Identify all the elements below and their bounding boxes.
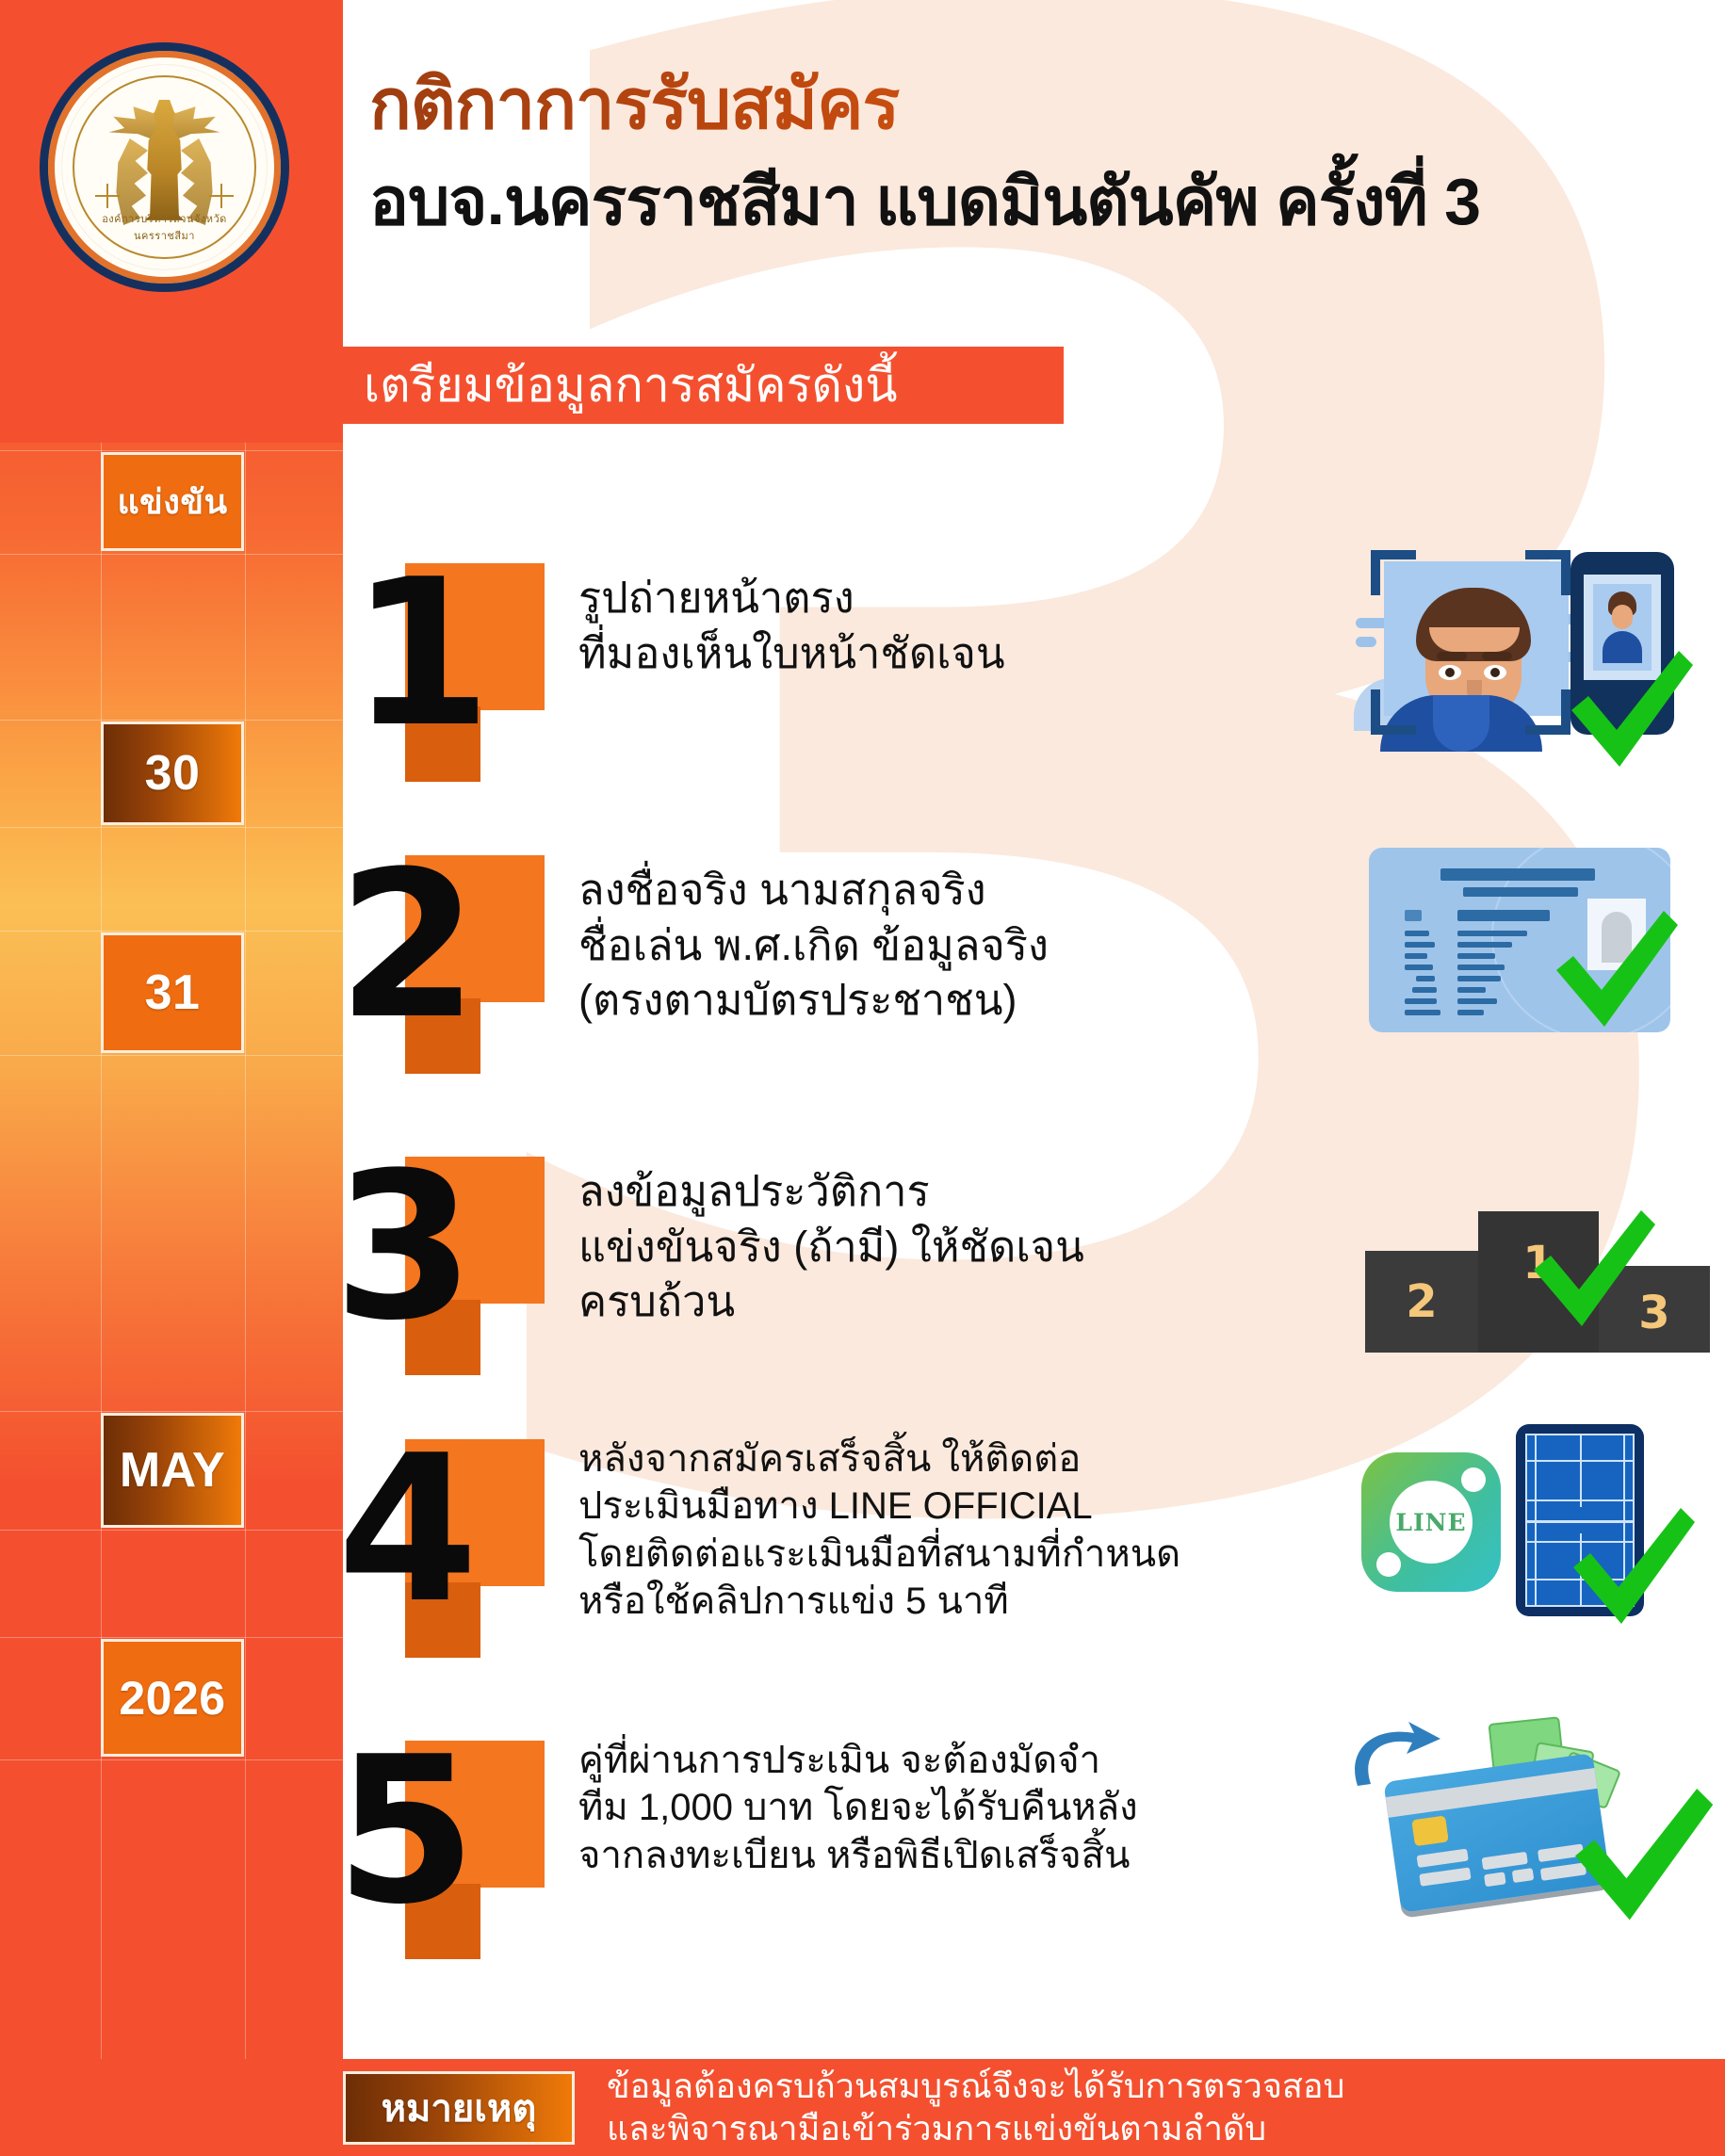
step-1-line-1: รูปถ่ายหน้าตรง: [578, 571, 1348, 626]
page-title: กติกาการรับสมัคร: [369, 68, 1480, 141]
step-3-text: ลงข้อมูลประวัติการ แข่งขันจริง (ถ้ามี) ใ…: [569, 1121, 1348, 1330]
green-check-icon-3: [1520, 1196, 1661, 1337]
rail-chip-day-30: 30: [101, 721, 244, 825]
id-card-icon: [1348, 819, 1725, 1121]
poster-canvas: 3 องค์การบริหารส่วนจังหวัดนครราชส: [0, 0, 1725, 2156]
step-2-line-2: ชื่อเล่น พ.ศ.เกิด ข้อมูลจริง: [578, 918, 1348, 974]
podium-label-2: 2: [1365, 1275, 1478, 1328]
note-line-2: และพิจารณามือเข้าร่วมการแข่งขันตามลำดับ: [607, 2108, 1344, 2150]
step-item-2: 2 ลงชื่อจริง นามสกุลจริง ชื่อเล่น พ.ศ.เก…: [343, 819, 1725, 1121]
scan-bracket-top-right-icon: [1525, 550, 1570, 595]
step-1-number-block: 1: [343, 527, 569, 819]
step-5-line-3: จากลงทะเบียน หรือพิธีเปิดเสร็จสิ้น: [578, 1832, 1348, 1879]
seal-cross-right-icon: [209, 184, 234, 208]
step-1-text: รูปถ่ายหน้าตรง ที่มองเห็นใบหน้าชัดเจน: [569, 527, 1348, 681]
step-3-number: 3: [334, 1153, 560, 1351]
step-3-number-block: 3: [343, 1121, 569, 1403]
step-3-line-2: แข่งขันจริง (ถ้ามี) ให้ชัดเจน: [578, 1220, 1348, 1275]
scan-bracket-top-left-icon: [1371, 550, 1416, 595]
line-wordmark: LINE: [1390, 1481, 1473, 1564]
steps-list: 1 รูปถ่ายหน้าตรง ที่มองเห็นใบหน้าชัดเจน: [343, 527, 1725, 1987]
rail-chip-day-31: 31: [101, 932, 244, 1053]
step-4-number-block: 4: [343, 1403, 569, 1705]
podium-place-2: 2: [1365, 1251, 1478, 1353]
podium-icon: 2 1 3: [1348, 1121, 1725, 1403]
step-5-text: คู่ที่ผ่านการประเมิน จะต้องมัดจำ ทีม 1,0…: [569, 1705, 1348, 1879]
payment-icon: [1348, 1705, 1725, 1987]
poster-header: กติกาการรับสมัคร อบจ.นครราชสีมา แบดมินตั…: [369, 68, 1480, 253]
step-2-line-3: (ตรงตามบัตรประชาชน): [578, 973, 1348, 1029]
card-chip-icon: [1411, 1815, 1449, 1846]
line-court-icon: LINE: [1348, 1403, 1725, 1705]
step-4-text: หลังจากสมัครเสร็จสิ้น ให้ติดต่อ ประเมินม…: [569, 1403, 1348, 1626]
page-subtitle: อบจ.นครราชสีมา แบดมินตันคัพ ครั้งที่ 3: [369, 149, 1480, 253]
step-3-line-1: ลงข้อมูลประวัติการ: [578, 1164, 1348, 1220]
note-line-1: ข้อมูลต้องครบถ้วนสมบูรณ์จึงจะได้รับการตร…: [607, 2066, 1344, 2108]
step-item-3: 3 ลงข้อมูลประวัติการ แข่งขันจริง (ถ้ามี)…: [343, 1121, 1725, 1403]
step-3-line-3: ครบถ้วน: [578, 1274, 1348, 1330]
note-text: ข้อมูลต้องครบถ้วนสมบูรณ์จึงจะได้รับการตร…: [607, 2066, 1344, 2149]
step-4-line-1: หลังจากสมัครเสร็จสิ้น ให้ติดต่อ: [578, 1435, 1348, 1483]
step-2-number-block: 2: [343, 819, 569, 1121]
rail-chip-competition: แข่งขัน: [101, 452, 244, 551]
rail-chip-year-2026: 2026: [101, 1639, 244, 1757]
step-1-line-2: ที่มองเห็นใบหน้าชัดเจน: [578, 626, 1348, 682]
step-2-line-1: ลงชื่อจริง นามสกุลจริง: [578, 863, 1348, 918]
seal-cross-left-icon: [95, 184, 120, 208]
step-item-1: 1 รูปถ่ายหน้าตรง ที่มองเห็นใบหน้าชัดเจน: [343, 527, 1725, 819]
step-4-line-2: ประเมินมือทาง LINE OFFICIAL: [578, 1483, 1348, 1530]
step-5-line-2: ทีม 1,000 บาท โดยจะได้รับคืนหลัง: [578, 1784, 1348, 1831]
rail-chip-month-may: MAY: [101, 1413, 244, 1528]
green-check-icon-5: [1559, 1773, 1719, 1933]
line-app-icon: LINE: [1361, 1452, 1501, 1592]
step-item-5: 5 คู่ที่ผ่านการประเมิน จะต้องมัดจำ ทีม 1…: [343, 1705, 1725, 1987]
step-2-number: 2: [337, 851, 563, 1049]
green-check-icon-1: [1557, 637, 1699, 778]
step-5-line-1: คู่ที่ผ่านการประเมิน จะต้องมัดจำ: [578, 1737, 1348, 1784]
step-item-4: 4 หลังจากสมัครเสร็จสิ้น ให้ติดต่อ ประเมิ…: [343, 1403, 1725, 1705]
face-scan-icon: [1348, 527, 1725, 819]
step-5-number: 5: [335, 1737, 561, 1935]
step-4-number: 4: [337, 1435, 563, 1633]
seal-caption: องค์การบริหารส่วนจังหวัดนครราชสีมา: [74, 210, 254, 244]
step-4-line-3: โดยติดต่อแระเมินมือที่สนามที่กำหนด: [578, 1531, 1348, 1578]
green-check-icon-2: [1542, 897, 1684, 1038]
note-label-chip: หมายเหตุ: [343, 2071, 575, 2145]
provincial-seal-logo: องค์การบริหารส่วนจังหวัดนครราชสีมา: [40, 42, 289, 292]
step-2-text: ลงชื่อจริง นามสกุลจริง ชื่อเล่น พ.ศ.เกิด…: [569, 819, 1348, 1029]
scan-bracket-bottom-left-icon: [1371, 689, 1416, 735]
seal-inner-ring: องค์การบริหารส่วนจังหวัดนครราชสีมา: [73, 75, 256, 259]
instructions-band: เตรียมข้อมูลการสมัครดังนี้: [343, 347, 1064, 424]
step-1-number: 1: [350, 559, 577, 757]
step-4-line-4: หรือใช้คลิปการแข่ง 5 นาที: [578, 1578, 1348, 1625]
step-5-number-block: 5: [343, 1705, 569, 1987]
footer-note-bar: หมายเหตุ ข้อมูลต้องครบถ้วนสมบูรณ์จึงจะได…: [0, 2059, 1725, 2156]
instructions-band-label: เตรียมข้อมูลการสมัครดังนี้: [364, 349, 898, 423]
green-check-icon-4: [1559, 1494, 1701, 1635]
